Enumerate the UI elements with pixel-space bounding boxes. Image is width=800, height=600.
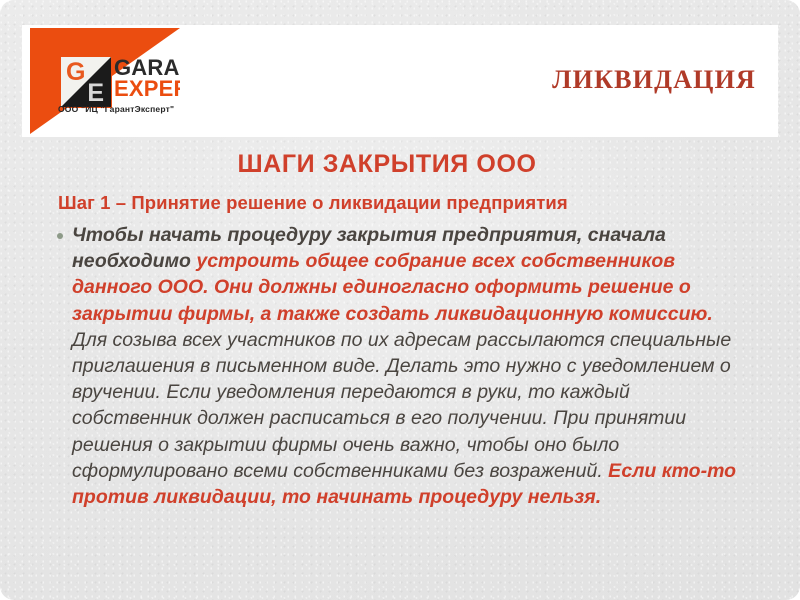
slide-header-band: G E GARANT EXPERT ООО "ИЦ "ГарантЭксперт…	[22, 25, 778, 137]
header-title: ЛИКВИДАЦИЯ	[552, 65, 756, 95]
bullet-list-item: Чтобы начать процедуру закрытия предприя…	[0, 222, 800, 510]
presentation-slide: G E GARANT EXPERT ООО "ИЦ "ГарантЭксперт…	[0, 0, 800, 600]
logo-wordmark-expert: EXPERT	[114, 76, 180, 102]
bullet-paragraph: Чтобы начать процедуру закрытия предприя…	[72, 222, 752, 510]
logo-letter-g: G	[66, 58, 85, 86]
bullet-dot-icon	[57, 233, 63, 239]
slide-content: ШАГИ ЗАКРЫТИЯ ООО Шаг 1 – Принятие решен…	[0, 150, 800, 510]
logo-tagline: ООО "ИЦ "ГарантЭксперт"	[58, 104, 174, 114]
logo-ge-monogram: G E	[60, 56, 112, 108]
company-logo: G E GARANT EXPERT ООО "ИЦ "ГарантЭксперт…	[30, 28, 180, 134]
slide-title: ШАГИ ЗАКРЫТИЯ ООО	[0, 150, 800, 179]
step-heading: Шаг 1 – Принятие решение о ликвидации пр…	[0, 192, 800, 214]
logo-letter-e: E	[87, 79, 104, 107]
